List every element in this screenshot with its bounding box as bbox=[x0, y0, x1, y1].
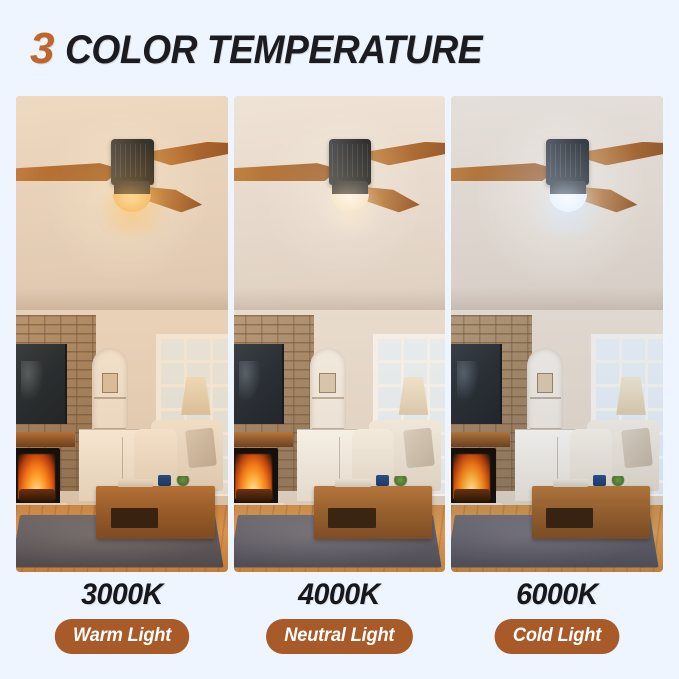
television bbox=[234, 344, 285, 425]
coffee-table-shelf bbox=[328, 508, 375, 528]
framed-picture bbox=[319, 373, 336, 393]
coffee-table bbox=[96, 486, 214, 538]
potted-plant bbox=[176, 476, 190, 486]
candle-jar bbox=[376, 475, 389, 487]
living-room-scene bbox=[451, 96, 663, 572]
light-type-badge-warm[interactable]: Warm Light bbox=[55, 619, 190, 654]
fan-light-lens bbox=[549, 194, 587, 212]
throw-pillow bbox=[185, 428, 216, 469]
kelvin-value-neutral: 4000K bbox=[299, 578, 381, 612]
heading-number: 3 bbox=[30, 24, 53, 74]
shelf-board bbox=[94, 397, 126, 399]
potted-plant bbox=[393, 476, 407, 486]
firebox bbox=[451, 448, 495, 505]
firebox bbox=[234, 448, 278, 505]
ceiling-fan bbox=[234, 96, 446, 320]
fire-logs bbox=[19, 489, 55, 502]
fireplace-mantel bbox=[234, 432, 293, 447]
fireplace-mantel bbox=[451, 432, 510, 447]
potted-plant bbox=[611, 476, 625, 486]
throw-pillow bbox=[403, 428, 434, 469]
coffee-table bbox=[532, 486, 650, 538]
shelf-board bbox=[312, 397, 344, 399]
fan-motor-housing bbox=[546, 139, 588, 186]
page-heading: 3 COLOR TEMPERATURE bbox=[30, 24, 514, 74]
motor-housing-ridges bbox=[332, 144, 368, 177]
fire-logs bbox=[454, 489, 490, 502]
firebox bbox=[16, 448, 60, 505]
caption-cold: 6000K Cold Light bbox=[451, 578, 663, 654]
television bbox=[16, 344, 67, 425]
tray-with-books bbox=[118, 479, 154, 487]
candle-jar bbox=[593, 475, 606, 487]
fireplace-mantel bbox=[16, 432, 75, 447]
framed-picture bbox=[537, 373, 554, 393]
tv-screen-glint bbox=[457, 361, 479, 401]
ceiling-fan bbox=[451, 96, 663, 320]
coffee-table-shelf bbox=[111, 508, 158, 528]
coffee-table-shelf bbox=[546, 508, 593, 528]
tray-with-books bbox=[553, 479, 589, 487]
ceiling-fan bbox=[16, 96, 228, 320]
scene-panel-neutral[interactable] bbox=[234, 96, 446, 572]
television bbox=[451, 344, 502, 425]
tray-with-books bbox=[335, 479, 371, 487]
kelvin-value-warm: 3000K bbox=[81, 578, 163, 612]
scene-panel-cold[interactable] bbox=[451, 96, 663, 572]
light-type-badge-neutral[interactable]: Neutral Light bbox=[266, 619, 412, 654]
page-title: COLOR TEMPERATURE bbox=[65, 28, 482, 73]
light-type-badge-cold[interactable]: Cold Light bbox=[495, 619, 620, 654]
kelvin-value-cold: 6000K bbox=[516, 578, 598, 612]
coffee-table bbox=[314, 486, 432, 538]
motor-housing-ridges bbox=[550, 144, 586, 177]
tv-screen-glint bbox=[239, 361, 261, 401]
fan-light-lens bbox=[113, 194, 151, 212]
framed-picture bbox=[102, 373, 119, 393]
throw-pillow bbox=[621, 428, 652, 469]
color-temperature-panel-strip bbox=[16, 96, 663, 572]
fan-blade-left bbox=[234, 163, 340, 181]
fan-motor-housing bbox=[329, 139, 371, 186]
living-room-scene bbox=[16, 96, 228, 572]
caption-neutral: 4000K Neutral Light bbox=[234, 578, 446, 654]
caption-warm: 3000K Warm Light bbox=[16, 578, 228, 654]
living-room-scene bbox=[234, 96, 446, 572]
scene-panel-warm[interactable] bbox=[16, 96, 228, 572]
caption-row: 3000K Warm Light 4000K Neutral Light 600… bbox=[16, 578, 663, 654]
fan-light-lens bbox=[331, 194, 369, 212]
fan-motor-housing bbox=[111, 139, 153, 186]
tv-screen-glint bbox=[21, 361, 43, 401]
shelf-board bbox=[530, 397, 562, 399]
fan-blade-left bbox=[16, 163, 122, 181]
motor-housing-ridges bbox=[115, 144, 151, 177]
candle-jar bbox=[158, 475, 171, 487]
fire-logs bbox=[236, 489, 272, 502]
fan-blade-left bbox=[451, 163, 557, 181]
